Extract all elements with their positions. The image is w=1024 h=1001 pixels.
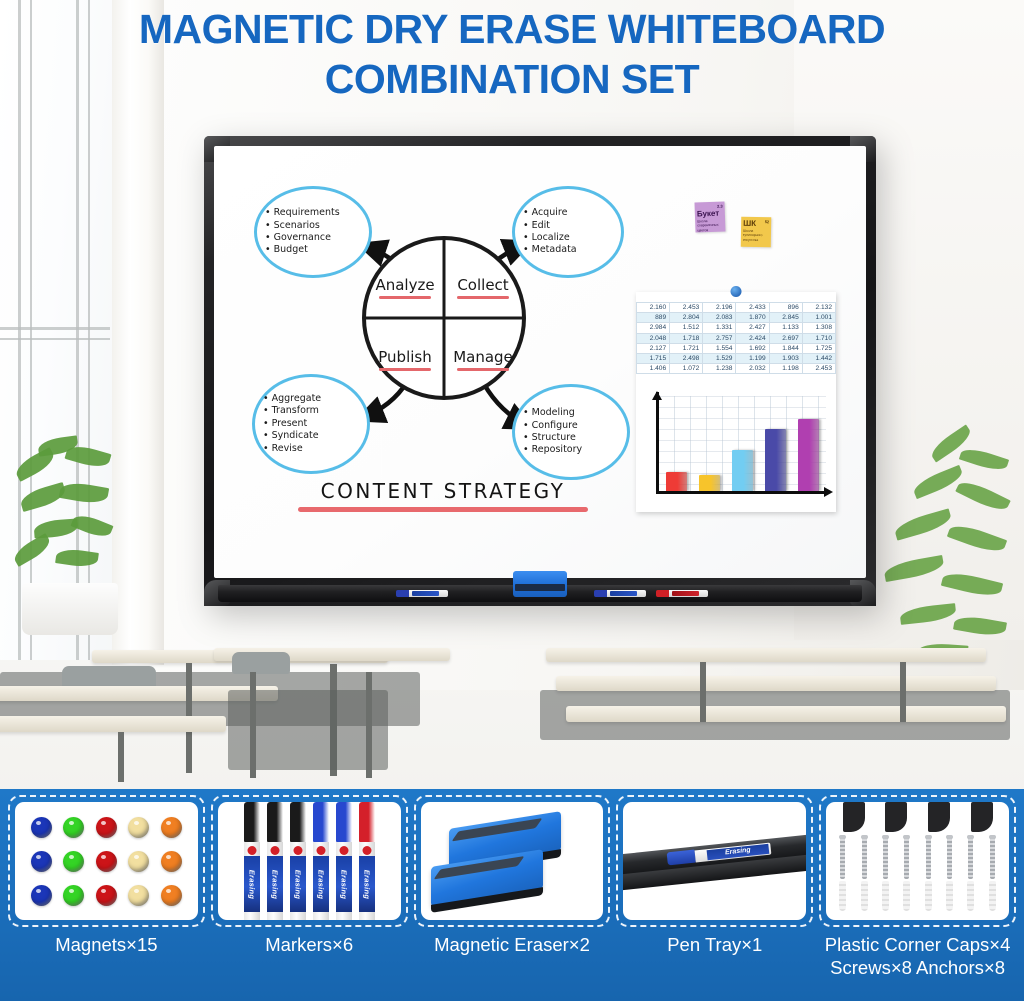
magnet [161,885,182,906]
corner-cap [843,802,865,832]
table-cell: 1.198 [769,364,802,374]
table-cell: 2.984 [637,323,670,333]
table-cell: 2.804 [670,313,703,323]
printout-sheet[interactable]: 2.1602.4532.1962.4338962.1328892.8042.08… [636,292,836,512]
diagram-title: CONTENT STRATEGY [278,479,608,512]
screw [840,835,845,879]
table-row: 1.7152.4981.5291.1991.9031.442 [637,353,836,363]
diagram-core-circle: Analyze Collect Publish Manage [362,236,526,400]
bubble-item: Transform [263,405,359,417]
table-cell: 1.844 [769,343,802,353]
pen-tray-image: Erasing [623,802,806,920]
corner-caps-group [832,802,1003,832]
table-cell: 2.453 [802,364,835,374]
table-cell: 2.127 [637,343,670,353]
magnets-image [15,802,198,920]
screw [926,835,931,879]
chart-bar [732,450,753,491]
anchor [903,881,910,911]
table-cell: 1.001 [802,313,835,323]
bubble-item: Budget [265,244,361,256]
title-line-1: MAGNETIC DRY ERASE WHITEBOARD [139,4,885,54]
quadrant-collect: Collect [444,240,522,318]
anchor [861,881,868,911]
table-cell: 896 [769,303,802,313]
label-markers: Markers×6 [211,931,408,993]
screw [904,835,909,879]
table-cell: 1.725 [802,343,835,353]
quadrant-publish: Publish [366,318,444,396]
whiteboard[interactable]: Requirements Scenarios Governance Budget… [204,136,876,606]
magnet [63,851,84,872]
eraser-unit-2 [431,849,543,907]
quadrant-manage: Manage [444,318,522,396]
bubble-item: Modeling [523,407,619,419]
anchor [882,881,889,911]
table-cell: 2.757 [703,333,736,343]
whiteboard-eraser[interactable] [513,571,567,597]
bubble-item: Present [263,418,359,430]
panel-pen-tray[interactable]: Erasing [616,795,813,927]
chart-bar [798,419,819,491]
magnet [31,851,52,872]
sticky-note-purple[interactable]: 2.3 Букет Школа современных цветов [694,201,725,232]
bubble-item: Structure [523,432,619,444]
magnet [128,817,149,838]
label-magnetic-eraser: Magnetic Eraser×2 [414,931,611,993]
table-cell: 2.427 [736,323,769,333]
panel-markers[interactable]: ErasingErasingErasingErasingErasingErasi… [211,795,408,927]
room-scene: Requirements Scenarios Governance Budget… [0,0,1024,800]
bubble-item: Requirements [265,207,361,219]
table-row: 2.0481.7182.7572.4242.6971.710 [637,333,836,343]
anchors-group [832,881,1003,911]
table-row: 8892.8042.0831.8702.8451.001 [637,313,836,323]
product-title: MAGNETIC DRY ERASE WHITEBOARD COMBINATIO… [0,0,1024,108]
marker-brand: Erasing [725,847,751,857]
corner-cap [885,802,907,832]
accessories-banner: ErasingErasingErasingErasingErasingErasi… [0,789,1024,1001]
table-cell: 1.721 [670,343,703,353]
data-table: 2.1602.4532.1962.4338962.1328892.8042.08… [636,302,836,374]
bubble-item: Syndicate [263,430,359,442]
bubble-analyze: Requirements Scenarios Governance Budget [254,186,372,278]
table-cell: 2.845 [769,313,802,323]
label-magnets: Magnets×15 [8,931,205,993]
table-row: 2.1602.4532.1962.4338962.132 [637,303,836,313]
table-cell: 1.529 [703,353,736,363]
bubble-publish: Aggregate Transform Present Syndicate Re… [252,374,370,474]
table-cell: 1.554 [703,343,736,353]
magnet [128,885,149,906]
table-row: 1.4061.0721.2382.0321.1982.453 [637,364,836,374]
bubble-item: Revise [263,443,359,455]
bubble-item: Scenarios [265,220,361,232]
magnet [63,885,84,906]
label-mounting-hardware: Plastic Corner Caps×4 Screws×8 Anchors×8 [819,931,1016,993]
anchor [925,881,932,911]
screw [990,835,995,879]
magnet [31,817,52,838]
marker: Erasing [313,802,329,920]
table-cell: 2.083 [703,313,736,323]
magnet [31,885,52,906]
magnet [96,885,117,906]
table-cell: 2.048 [637,333,670,343]
table-cell: 1.072 [670,364,703,374]
table-cell: 2.160 [637,303,670,313]
marker: Erasing [359,802,375,920]
accessory-panels: ErasingErasingErasingErasingErasingErasi… [8,795,1016,927]
label-pen-tray: Pen Tray×1 [616,931,813,993]
magnet [63,817,84,838]
bubble-manage: Modeling Configure Structure Repository [512,384,630,480]
whiteboard-pen-tray[interactable] [218,585,862,602]
table-cell: 1.710 [802,333,835,343]
magnet [96,817,117,838]
chart-bar [699,475,720,491]
corner-cap [928,802,950,832]
panel-magnetic-eraser[interactable] [414,795,611,927]
table-cell: 1.870 [736,313,769,323]
bubble-item: Configure [523,420,619,432]
table-cell: 2.697 [769,333,802,343]
screw [883,835,888,879]
magnet [96,851,117,872]
chart-bar [666,472,687,491]
tray-marker-blue-1[interactable] [396,590,448,597]
screw [947,835,952,879]
table-cell: 1.718 [670,333,703,343]
quadrant-analyze: Analyze [366,240,444,318]
table-cell: 1.133 [769,323,802,333]
plant-pot-left [22,583,118,635]
table-cell: 2.424 [736,333,769,343]
panel-magnets[interactable] [8,795,205,927]
title-line-2: COMBINATION SET [325,54,699,104]
table-cell: 1.442 [802,353,835,363]
bubble-item: Repository [523,444,619,456]
magnet [161,817,182,838]
table-cell: 889 [637,313,670,323]
hardware-image [826,802,1009,920]
panel-mounting-hardware[interactable] [819,795,1016,927]
screw [968,835,973,879]
bubble-item: Localize [523,232,613,244]
markers-image: ErasingErasingErasingErasingErasingErasi… [218,802,401,920]
table-cell: 2.032 [736,364,769,374]
marker: Erasing [336,802,352,920]
eraser-image [421,802,604,920]
anchor [839,881,846,911]
table-cell: 1.512 [670,323,703,333]
chart-y-axis [656,392,659,494]
tray-marker-blue-2[interactable] [594,590,646,597]
table-cell: 1.903 [769,353,802,363]
whiteboard-frame: Requirements Scenarios Governance Budget… [204,136,876,606]
table-cell: 1.715 [637,353,670,363]
whiteboard-surface[interactable]: Requirements Scenarios Governance Budget… [214,146,866,578]
magnet [128,851,149,872]
table-row: 2.1271.7211.5541.6921.8441.725 [637,343,836,353]
table-cell: 1.692 [736,343,769,353]
table-cell: 2.498 [670,353,703,363]
tray-marker-red[interactable] [656,590,708,597]
bubble-collect: Acquire Edit Localize Metadata [512,186,624,278]
magnet [161,851,182,872]
marker: Erasing [244,802,260,920]
bubble-item: Acquire [523,207,613,219]
table-cell: 1.238 [703,364,736,374]
table-cell: 1.308 [802,323,835,333]
anchor [989,881,996,911]
blue-magnet[interactable] [731,286,742,297]
table-cell: 2.196 [703,303,736,313]
table-cell: 2.132 [802,303,835,313]
anchor [946,881,953,911]
bubble-item: Edit [523,220,613,232]
table-row: 2.9841.5121.3312.4271.1331.308 [637,323,836,333]
bar-chart [642,392,830,506]
screw [862,835,867,879]
table-cell: 1.406 [637,364,670,374]
bubble-item: Governance [265,232,361,244]
marker: Erasing [290,802,306,920]
sticky-note-yellow[interactable]: 52 ШК Школа кулинарного искусства [741,217,772,248]
bubble-item: Metadata [523,244,613,256]
content-strategy-diagram: Requirements Scenarios Governance Budget… [244,184,644,524]
anchor [967,881,974,911]
table-cell: 2.433 [736,303,769,313]
accessory-labels: Magnets×15 Markers×6 Magnetic Eraser×2 P… [8,931,1016,993]
marker: Erasing [267,802,283,920]
chart-bar [765,429,786,491]
corner-cap [971,802,993,832]
table-cell: 1.331 [703,323,736,333]
diagram-title-underline [298,507,588,512]
table-cell: 2.453 [670,303,703,313]
screws-group [832,835,1003,879]
bubble-item: Aggregate [263,393,359,405]
chart-x-axis [656,491,828,494]
table-cell: 1.199 [736,353,769,363]
